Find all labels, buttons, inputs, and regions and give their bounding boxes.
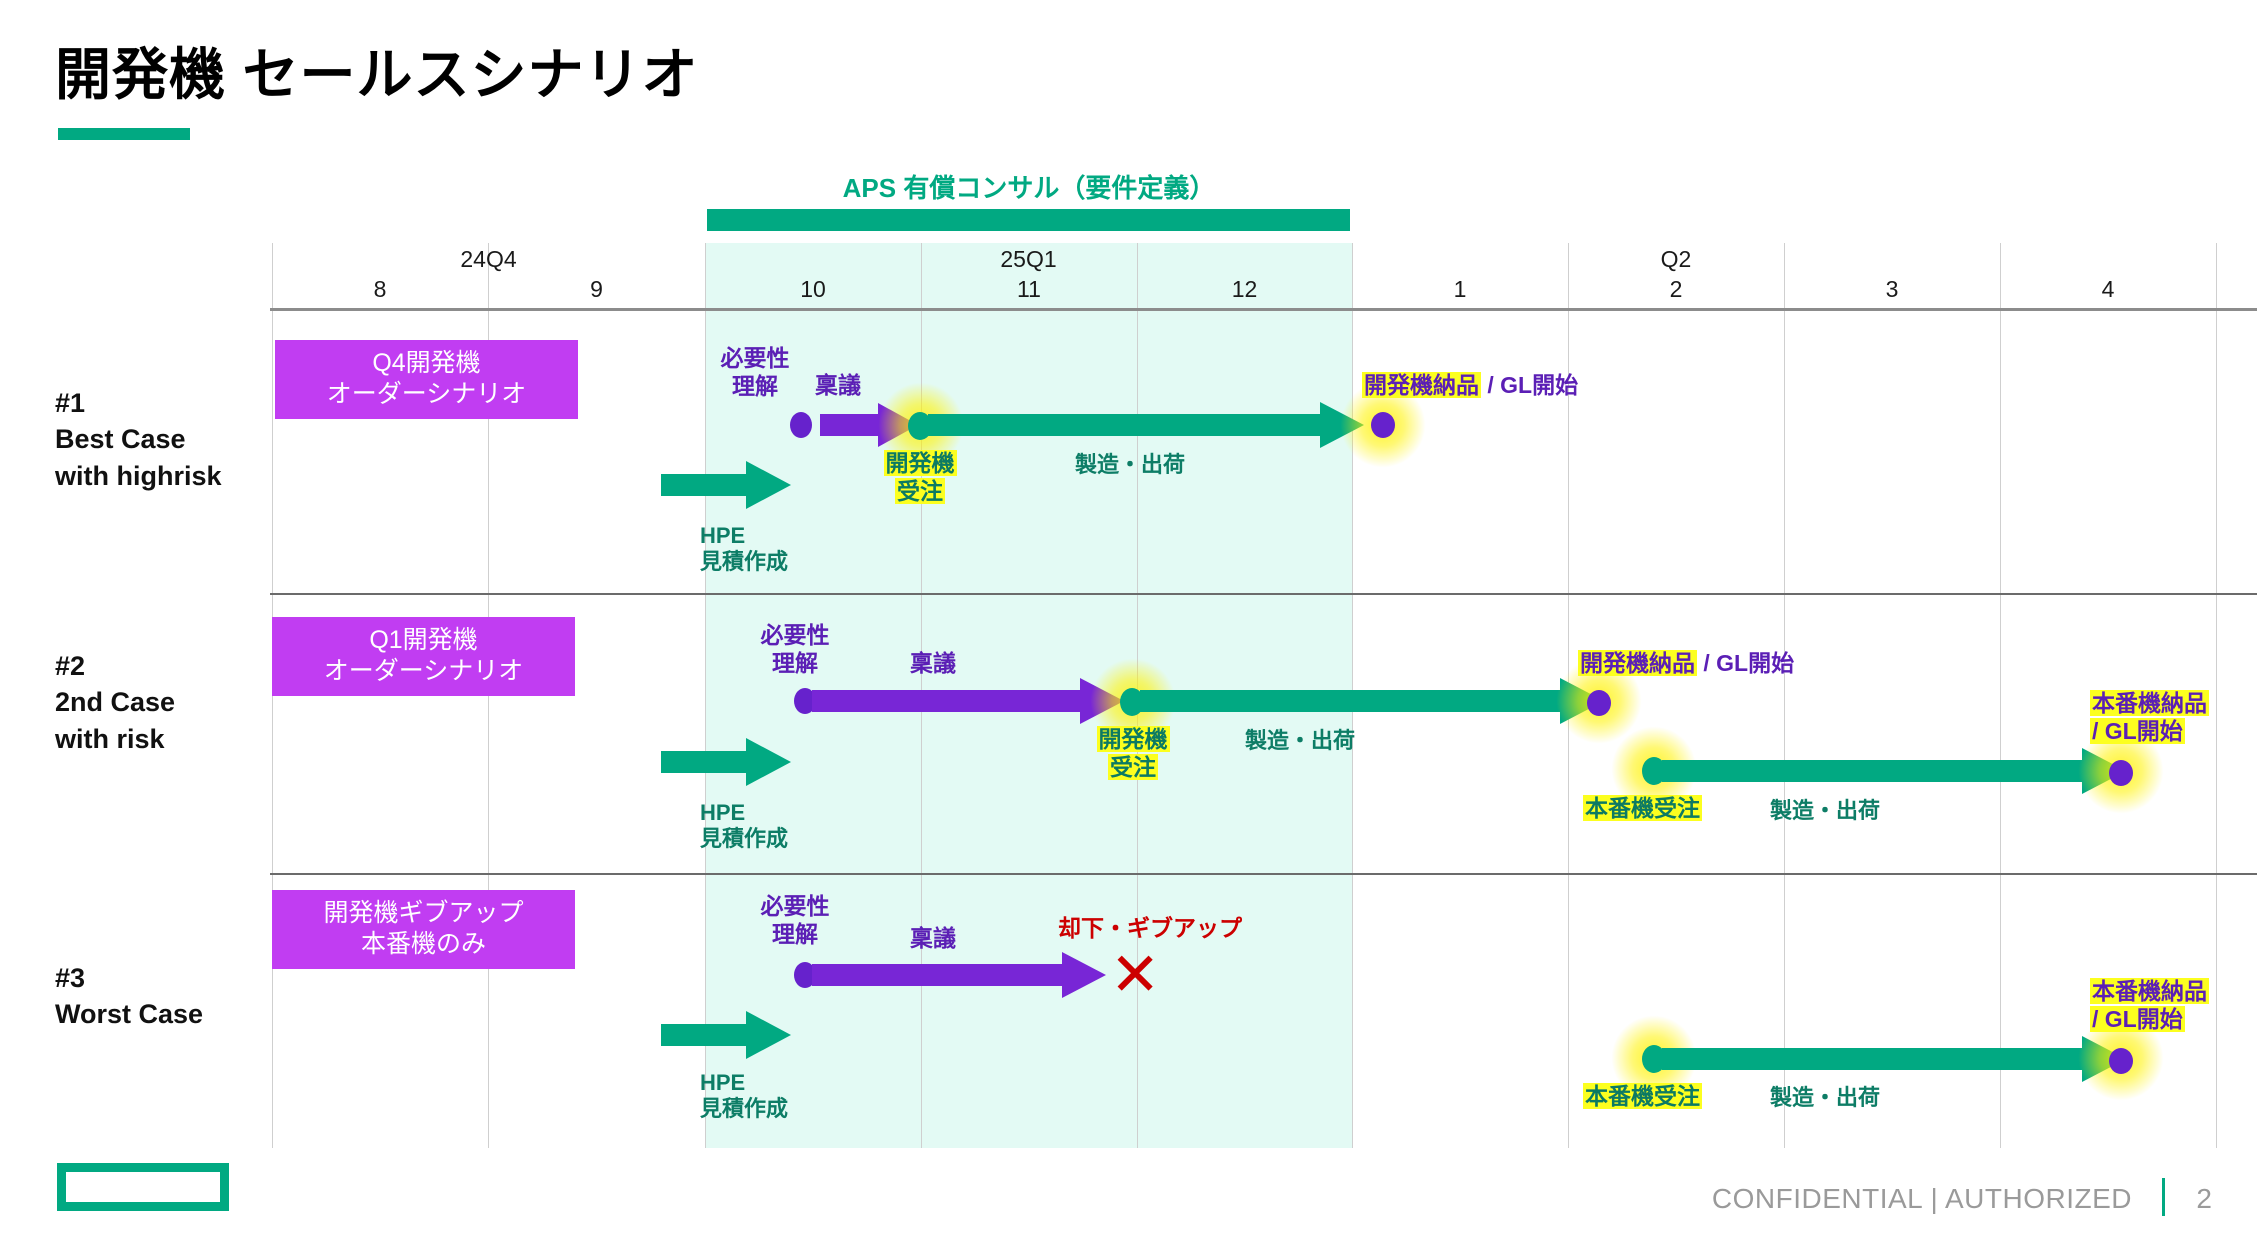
row-3-label: #3 Worst Case xyxy=(55,960,203,1033)
row-3-scenario-badge[interactable]: 開発機ギブアップ 本番機のみ xyxy=(272,890,575,969)
row-2-label: #2 2nd Case with risk xyxy=(55,648,175,757)
row-2-prod-delivery-label: 本番機納品 / GL開始 xyxy=(2090,690,2209,745)
arrow-shaft xyxy=(1662,1048,2082,1070)
month-label-9: 9 xyxy=(488,276,705,303)
row-1-scenario-badge[interactable]: Q4開発機 オーダーシナリオ xyxy=(275,340,578,419)
arrow-shaft xyxy=(928,414,1320,436)
arrow-shaft xyxy=(1662,760,2082,782)
row-3-badge-line2: 本番機のみ xyxy=(276,929,571,960)
row-1-need-line1: 必要性 xyxy=(705,345,805,373)
grid-col-line xyxy=(2216,243,2217,1148)
row-3-prod-delivery-hl: 本番機納品 xyxy=(2090,978,2209,1004)
row-2-delivery-hl: 開発機納品 xyxy=(1578,650,1697,676)
slide-root: 開発機 セールスシナリオ APS 有償コンサル（要件定義） 24Q4 25Q1 … xyxy=(0,0,2257,1234)
timeline-axis-line xyxy=(270,308,2257,311)
row-2-case-line1: 2nd Case xyxy=(55,684,175,720)
row-3-reject-label: 却下・ギブアップ xyxy=(1058,915,1242,943)
arrow-shaft xyxy=(661,751,746,773)
row-3-giveup-x-icon: ✕ xyxy=(1110,945,1160,1005)
confidentiality-notice: CONFIDENTIAL | AUTHORIZED xyxy=(1712,1183,2132,1215)
month-label-2: 2 xyxy=(1568,276,1784,303)
row-1-delivery-rest: / GL開始 xyxy=(1481,372,1578,398)
row-3-prod-order-label: 本番機受注 xyxy=(1583,1083,1702,1111)
row-2-order-line1: 開発機 xyxy=(1097,726,1170,752)
row-1-badge-line1: Q4開発機 xyxy=(279,348,574,379)
row-1-order-line1: 開発機 xyxy=(884,450,957,476)
row-1-hpe-line2: 見積作成 xyxy=(700,549,788,575)
row-3-badge-line1: 開発機ギブアップ xyxy=(276,898,571,929)
month-label-11: 11 xyxy=(921,276,1137,303)
arrow-shaft xyxy=(812,690,1080,712)
row-3-prod-order-text: 本番機受注 xyxy=(1583,1083,1702,1109)
row-1-need-dot xyxy=(790,412,812,438)
row-3-ringi-label: 稟議 xyxy=(910,925,956,953)
row-3-hpe-label: HPE 見積作成 xyxy=(700,1070,788,1123)
month-label-12: 12 xyxy=(1137,276,1352,303)
row-2-need-line1: 必要性 xyxy=(745,622,845,650)
arrow-head xyxy=(1062,952,1106,998)
row-1-ringi-label: 稟議 xyxy=(815,372,861,400)
aps-consult-bar xyxy=(707,209,1350,231)
quarter-label: 24Q4 xyxy=(272,246,705,273)
row-1-delivery-label: 開発機納品 / GL開始 xyxy=(1362,372,1578,400)
row-3-id: #3 xyxy=(55,960,203,996)
row-2-badge-line2: オーダーシナリオ xyxy=(276,656,571,687)
row-1-case-line1: Best Case xyxy=(55,421,222,457)
row-1-hpe-label: HPE 見積作成 xyxy=(700,523,788,576)
row-2-hpe-line2: 見積作成 xyxy=(700,826,788,852)
row-3-need-label: 必要性 理解 xyxy=(745,893,845,948)
row-3-prod-manufacture-label: 製造・出荷 xyxy=(1705,1085,1945,1111)
row-divider-2 xyxy=(270,873,2257,875)
row-2-prod-delivery-hl: 本番機納品 xyxy=(2090,690,2209,716)
row-1-order-line2: 受注 xyxy=(895,478,945,504)
row-1-id: #1 xyxy=(55,385,222,421)
hpe-logo xyxy=(57,1163,229,1211)
row-2-order-label: 開発機 受注 xyxy=(1083,726,1183,781)
row-2-prod-order-label: 本番機受注 xyxy=(1583,795,1702,823)
row-divider-1 xyxy=(270,593,2257,595)
arrow-shaft xyxy=(661,1024,746,1046)
month-label-1: 1 xyxy=(1352,276,1568,303)
row-2-order-line2: 受注 xyxy=(1108,754,1158,780)
row-3-prod-delivery-rest: / GL開始 xyxy=(2090,1006,2185,1032)
page-title: 開発機 セールスシナリオ xyxy=(55,30,699,111)
row-2-ringi-label: 稟議 xyxy=(910,650,956,678)
arrow-head xyxy=(746,1011,791,1059)
arrow-shaft xyxy=(1140,690,1560,712)
row-2-prod-order-text: 本番機受注 xyxy=(1583,795,1702,821)
row-3-prod-delivery-dot xyxy=(2109,1048,2133,1074)
arrow-shaft xyxy=(812,964,1062,986)
row-3-need-line2: 理解 xyxy=(745,921,845,949)
row-1-delivery-hl: 開発機納品 xyxy=(1362,372,1481,398)
row-2-hpe-label: HPE 見積作成 xyxy=(700,800,788,853)
row-1-manufacture-label: 製造・出荷 xyxy=(1010,452,1250,478)
month-label-3: 3 xyxy=(1784,276,2000,303)
title-accent-bar xyxy=(58,128,190,140)
arrow-head xyxy=(746,461,791,509)
arrow-shaft xyxy=(820,414,878,436)
month-label-8: 8 xyxy=(272,276,488,303)
arrow-head xyxy=(1080,678,1124,724)
footer-divider xyxy=(2162,1178,2165,1216)
arrow-head xyxy=(1320,402,1364,448)
row-3-case-line1: Worst Case xyxy=(55,996,203,1032)
row-2-prod-delivery-dot xyxy=(2109,760,2133,786)
quarter-label: 25Q1 xyxy=(705,246,1352,273)
row-2-id: #2 xyxy=(55,648,175,684)
row-2-prod-delivery-rest: / GL開始 xyxy=(2090,718,2185,744)
row-1-delivery-dot xyxy=(1371,412,1395,438)
row-3-prod-delivery-label: 本番機納品 / GL開始 xyxy=(2090,978,2209,1033)
arrow-head xyxy=(746,738,791,786)
row-2-badge-line1: Q1開発機 xyxy=(276,625,571,656)
row-3-hpe-line1: HPE xyxy=(700,1070,788,1096)
page-number: 2 xyxy=(2196,1183,2212,1215)
row-2-prod-manufacture-label: 製造・出荷 xyxy=(1705,798,1945,824)
grid-col-line xyxy=(1784,243,1785,1148)
row-1-label: #1 Best Case with highrisk xyxy=(55,385,222,494)
row-2-delivery-label: 開発機納品 / GL開始 xyxy=(1578,650,1794,678)
row-3-need-line1: 必要性 xyxy=(745,893,845,921)
aps-consult-label: APS 有償コンサル（要件定義） xyxy=(705,168,1353,205)
row-2-need-line2: 理解 xyxy=(745,650,845,678)
row-2-scenario-badge[interactable]: Q1開発機 オーダーシナリオ xyxy=(272,617,575,696)
row-1-case-line2: with highrisk xyxy=(55,458,222,494)
grid-col-line xyxy=(2000,243,2001,1148)
row-2-hpe-line1: HPE xyxy=(700,800,788,826)
row-2-need-label: 必要性 理解 xyxy=(745,622,845,677)
row-2-case-line2: with risk xyxy=(55,721,175,757)
row-3-hpe-line2: 見積作成 xyxy=(700,1096,788,1122)
row-1-need-line2: 理解 xyxy=(705,373,805,401)
month-label-4: 4 xyxy=(2000,276,2216,303)
row-2-delivery-rest: / GL開始 xyxy=(1697,650,1794,676)
arrow-shaft xyxy=(661,474,746,496)
row-2-manufacture-label: 製造・出荷 xyxy=(1180,728,1420,754)
row-1-order-label: 開発機 受注 xyxy=(870,450,970,505)
row-1-hpe-line1: HPE xyxy=(700,523,788,549)
quarter-label: Q2 xyxy=(1568,246,1784,273)
month-label-10: 10 xyxy=(705,276,921,303)
row-2-delivery-dot xyxy=(1587,690,1611,716)
row-1-badge-line2: オーダーシナリオ xyxy=(279,379,574,410)
row-1-need-label: 必要性 理解 xyxy=(705,345,805,400)
